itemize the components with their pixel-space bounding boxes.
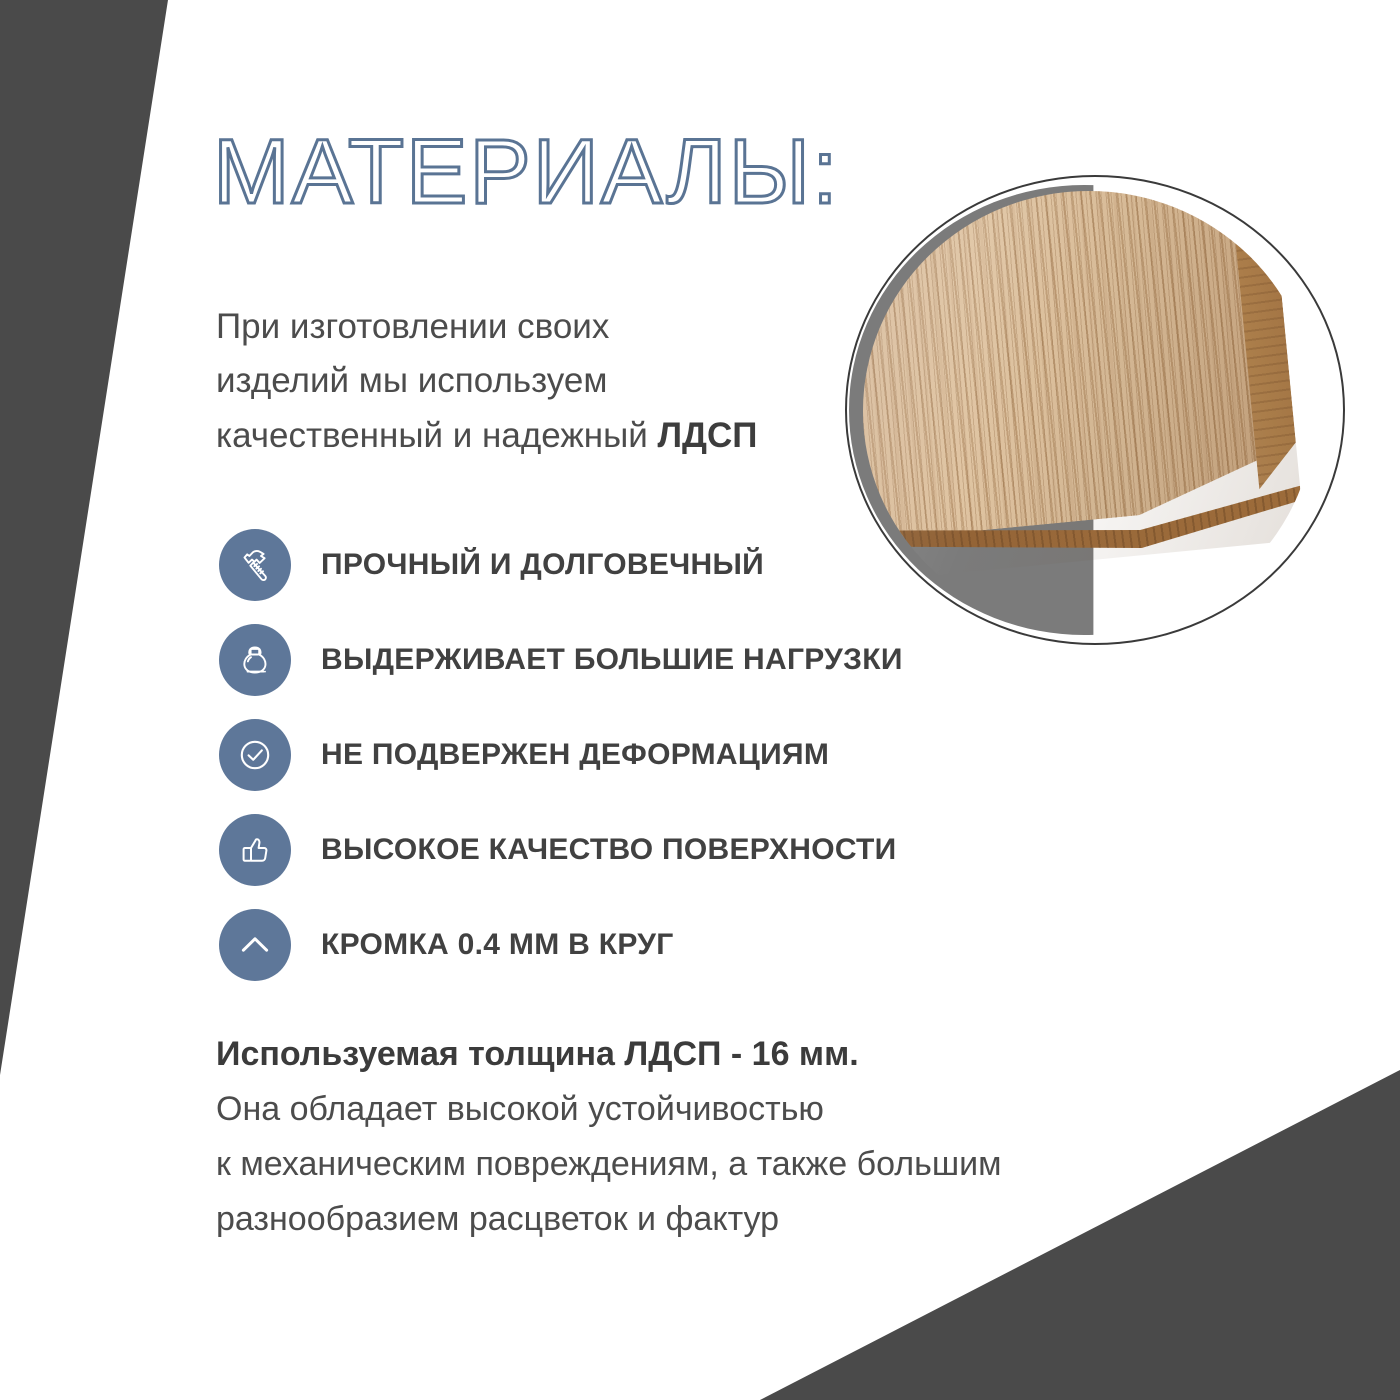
corner-wedge-top-left xyxy=(0,0,180,1080)
thumbs-up-icon xyxy=(219,814,291,886)
feature-label: НЕ ПОДВЕРЖЕН ДЕФОРМАЦИЯМ xyxy=(321,738,829,772)
feature-label: КРОМКА 0.4 ММ В КРУГ xyxy=(321,928,674,962)
outro-line-3: к механическим повреждениям, а также бол… xyxy=(216,1137,1196,1192)
chevron-up-icon xyxy=(219,909,291,981)
outro-line-4: разнообразием расцветок и фактур xyxy=(216,1192,1196,1247)
list-item: НЕ ПОДВЕРЖЕН ДЕФОРМАЦИЯМ xyxy=(219,707,959,802)
page-title: МАТЕРИАЛЫ: xyxy=(213,126,840,218)
hammer-icon xyxy=(219,529,291,601)
wood-board-corner-photo xyxy=(845,175,1345,645)
intro-line-1: При изготовлении своих xyxy=(216,300,866,354)
thickness-statement: Используемая толщина ЛДСП - 16 мм. xyxy=(216,1027,1196,1082)
feature-label: ПРОЧНЫЙ И ДОЛГОВЕЧНЫЙ xyxy=(321,548,764,582)
outro-line-2: Она обладает высокой устойчивостью xyxy=(216,1082,1196,1137)
list-item: ВЫСОКОЕ КАЧЕСТВО ПОВЕРХНОСТИ xyxy=(219,802,959,897)
intro-line-3-plain: качественный и надежный xyxy=(216,416,658,455)
infographic-page: МАТЕРИАЛЫ: При изготовлении своих издели… xyxy=(0,0,1400,1400)
intro-line-2: изделий мы используем xyxy=(216,354,866,408)
photo-outline-ring xyxy=(845,175,1345,645)
list-item: КРОМКА 0.4 ММ В КРУГ xyxy=(219,897,959,992)
feature-label: ВЫСОКОЕ КАЧЕСТВО ПОВЕРХНОСТИ xyxy=(321,833,897,867)
intro-paragraph: При изготовлении своих изделий мы исполь… xyxy=(216,300,866,463)
outro-paragraph: Используемая толщина ЛДСП - 16 мм. Она о… xyxy=(216,1027,1196,1247)
intro-line-3: качественный и надежный ЛДСП xyxy=(216,409,866,463)
feature-label: ВЫДЕРЖИВАЕТ БОЛЬШИЕ НАГРУЗКИ xyxy=(321,643,903,677)
check-circle-icon xyxy=(219,719,291,791)
kettlebell-icon xyxy=(219,624,291,696)
intro-material-name: ЛДСП xyxy=(658,416,758,455)
